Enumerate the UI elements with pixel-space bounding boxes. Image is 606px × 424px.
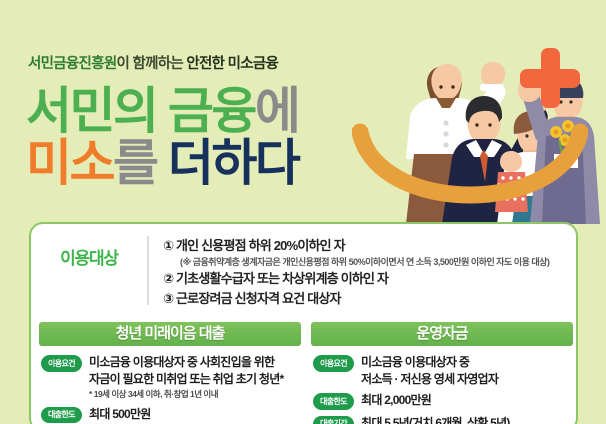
row-line: 최대 2,000만원 xyxy=(361,392,431,409)
headline-1-green: 서민의 금융 xyxy=(26,83,255,139)
product-body-youth: 이용요건 미소금융 이용대상자 중 사회진입을 위한 자금이 필요한 미취업 또… xyxy=(39,346,301,423)
row-badge: 이용요건 xyxy=(41,355,82,372)
headline-line-2: 미소를 더하다 xyxy=(26,138,298,188)
product-row: 이용요건 미소금융 이용대상자 중 사회진입을 위한 자금이 필요한 미취업 또… xyxy=(41,354,299,401)
eligibility-item-2: ② 기초생활수급자 또는 차상위계층 이하인 자 xyxy=(163,269,566,289)
eligibility-item-3: ③ 근로장려금 신청자격 요건 대상자 xyxy=(163,289,566,309)
hero-section: 서민금융진흥원이 함께하는 안전한 미소금융 서민의 금융에 미소를 더하다 xyxy=(0,0,606,222)
headline-line-1: 서민의 금융에 xyxy=(26,86,298,136)
plus-icon xyxy=(520,48,580,108)
row-text: 최대 2,000만원 xyxy=(354,392,431,409)
headline-2-orange: 미소 xyxy=(26,135,113,191)
smile-arc-icon xyxy=(352,118,588,236)
row-line: 미소금융 이용대상자 중 xyxy=(361,354,498,371)
product-row: 대출한도 최대 500만원 xyxy=(41,406,299,424)
eligibility-list: ① 개인 신용평점 하위 20%이하인 자 (※ 금융취약계층 생계자금은 개인… xyxy=(149,232,576,309)
product-card-youth: 청년 미래이음 대출 이용요건 미소금융 이용대상자 중 사회진입을 위한 자금… xyxy=(39,322,301,424)
row-text: 미소금융 이용대상자 중 사회진입을 위한 자금이 필요한 미취업 또는 취업 … xyxy=(82,354,283,401)
headline-2-gray: 를 xyxy=(113,135,157,191)
row-subnote: * 19세 이상 34세 이하, 취·창업 1년 이내 xyxy=(89,389,283,401)
row-text: 최대 5.5년(거치 6개월, 상환 5년) xyxy=(354,415,510,424)
tagline-emph: 안전한 미소금융 xyxy=(186,56,278,72)
product-row: 대출기간 최대 5.5년(거치 6개월, 상환 5년) xyxy=(313,415,571,424)
tagline-mid: 이 함께하는 xyxy=(116,56,186,72)
row-line: 미소금융 이용대상자 중 사회진입을 위한 xyxy=(89,354,283,371)
eligibility-item-1: ① 개인 신용평점 하위 20%이하인 자 xyxy=(163,236,566,256)
product-card-operating: 운영자금 이용요건 미소금융 이용대상자 중 저소득 · 저신용 영세 자영업자… xyxy=(311,322,573,424)
row-text: 미소금융 이용대상자 중 저소득 · 저신용 영세 자영업자 xyxy=(354,354,498,387)
row-text: 최대 500만원 xyxy=(82,406,151,423)
row-line: 최대 5.5년(거치 6개월, 상환 5년) xyxy=(361,415,510,424)
row-line: 자금이 필요한 미취업 또는 취업 초기 청년* xyxy=(89,371,283,388)
eligibility-section: 이용대상 ① 개인 신용평점 하위 20%이하인 자 (※ 금융취약계층 생계자… xyxy=(31,232,576,309)
product-body-operating: 이용요건 미소금융 이용대상자 중 저소득 · 저신용 영세 자영업자 대출한도… xyxy=(311,346,573,424)
poster-root: 서민금융진흥원이 함께하는 안전한 미소금융 서민의 금융에 미소를 더하다 이… xyxy=(0,0,606,424)
product-row: 이용요건 미소금융 이용대상자 중 저소득 · 저신용 영세 자영업자 xyxy=(313,354,571,387)
hero-tagline: 서민금융진흥원이 함께하는 안전한 미소금융 xyxy=(28,52,278,73)
tagline-org: 서민금융진흥원 xyxy=(28,56,116,72)
product-title-operating: 운영자금 xyxy=(311,322,573,346)
headline-1-gray: 에 xyxy=(255,83,299,139)
eligibility-note: (※ 금융취약계층 생계자금은 개인신용평점 하위 50%이하이면서 연 소득 … xyxy=(163,256,566,270)
product-row: 대출한도 최대 2,000만원 xyxy=(313,392,571,410)
info-panel: 이용대상 ① 개인 신용평점 하위 20%이하인 자 (※ 금융취약계층 생계자… xyxy=(29,222,578,424)
row-badge: 이용요건 xyxy=(313,355,354,372)
row-badge: 대출한도 xyxy=(41,407,82,424)
eligibility-label: 이용대상 xyxy=(31,232,147,269)
product-title-youth: 청년 미래이음 대출 xyxy=(39,322,301,346)
row-badge: 대출한도 xyxy=(313,393,354,410)
headline-2-navy: 더하다 xyxy=(157,135,299,191)
row-badge: 대출기간 xyxy=(313,416,354,424)
product-cards: 청년 미래이음 대출 이용요건 미소금융 이용대상자 중 사회진입을 위한 자금… xyxy=(39,322,572,424)
row-line: 저소득 · 저신용 영세 자영업자 xyxy=(361,371,498,388)
row-line: 최대 500만원 xyxy=(89,406,151,423)
